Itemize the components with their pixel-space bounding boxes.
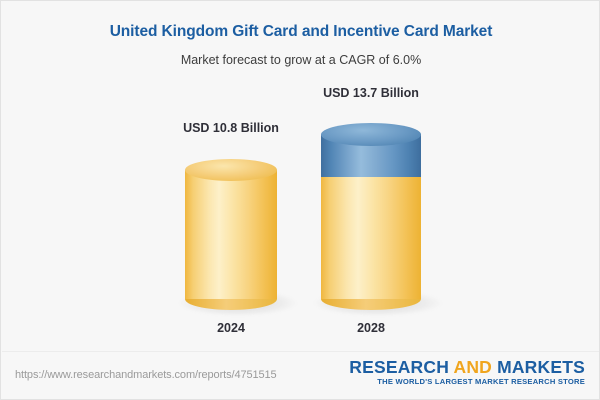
cylinder-top-ellipse [185, 159, 277, 181]
research-and-markets-logo[interactable]: RESEARCH AND MARKETS THE WORLD'S LARGEST… [349, 358, 585, 386]
cylinder-body-yellow [185, 170, 277, 299]
logo-tagline: THE WORLD'S LARGEST MARKET RESEARCH STOR… [349, 377, 585, 386]
category-label-2028: 2028 [276, 321, 466, 335]
chart-canvas: United Kingdom Gift Card and Incentive C… [0, 0, 600, 400]
bar-2024[interactable] [185, 81, 277, 346]
bar-2028[interactable] [321, 81, 421, 346]
logo-word-research: RESEARCH [349, 357, 449, 377]
logo-word-markets: MARKETS [497, 357, 585, 377]
report-url[interactable]: https://www.researchandmarkets.com/repor… [15, 369, 277, 381]
cylinder-body-yellow [321, 176, 421, 299]
logo-wordmark: RESEARCH AND MARKETS [349, 358, 585, 376]
logo-word-and: AND [453, 357, 492, 377]
chart-subtitle: Market forecast to grow at a CAGR of 6.0… [1, 53, 600, 67]
plot-area: USD 10.8 Billion 2024 USD 13.7 Billion [1, 81, 600, 346]
chart-title: United Kingdom Gift Card and Incentive C… [1, 23, 600, 41]
footer-divider [2, 351, 600, 352]
cylinder-top-ellipse [321, 123, 421, 146]
